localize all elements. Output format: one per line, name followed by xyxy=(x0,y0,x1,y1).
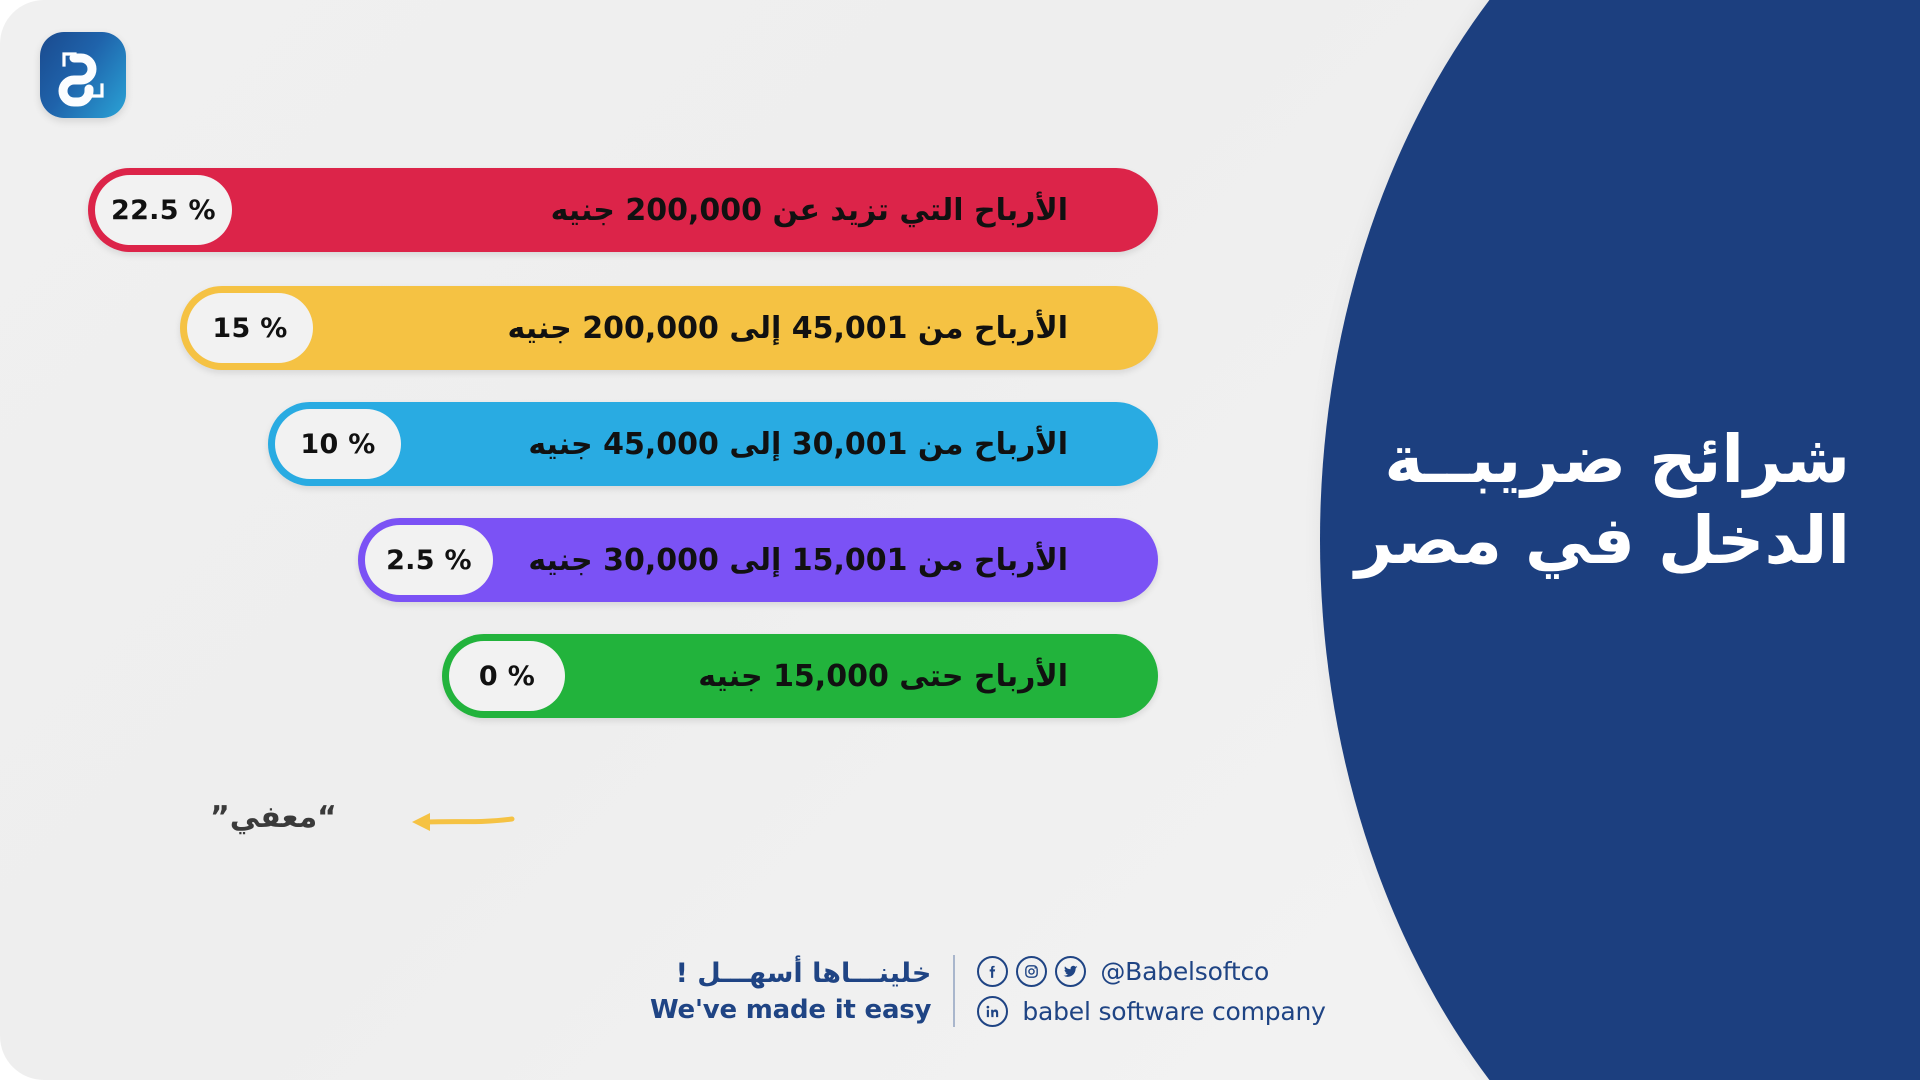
percent-label-2: 10 % xyxy=(300,429,375,460)
slogan-arabic: خلينـــاها أسهـــل ! xyxy=(650,958,931,989)
social-row-linkedin: babel software company xyxy=(977,996,1325,1027)
linkedin-glyph xyxy=(984,1003,1001,1020)
bracket-label-3: الأرباح من 15,001 إلى 30,000 جنيه xyxy=(528,543,1068,578)
twitter-icon[interactable] xyxy=(1055,956,1086,987)
bar-row-0[interactable]: 22.5 % الأرباح التي تزيد عن 200,000 جنيه xyxy=(88,168,1158,252)
infographic-canvas: شرائح ضريبــة الدخل في مصر 22.5 % الأربا… xyxy=(0,0,1920,1080)
babel-logo[interactable] xyxy=(40,32,126,118)
bracket-label-2: الأرباح من 30,001 إلى 45,000 جنيه xyxy=(528,427,1068,462)
linkedin-handle[interactable]: babel software company xyxy=(1022,997,1325,1026)
slogan-english: We've made it easy xyxy=(650,995,931,1025)
footer: خلينـــاها أسهـــل ! We've made it easy xyxy=(650,955,1326,1027)
percent-label-0: 22.5 % xyxy=(111,195,216,226)
instagram-icon[interactable] xyxy=(1016,956,1047,987)
facebook-icon[interactable] xyxy=(977,956,1008,987)
percent-pill-3: 2.5 % xyxy=(365,525,493,595)
percent-label-3: 2.5 % xyxy=(386,545,472,576)
twitter-glyph xyxy=(1062,963,1079,980)
bar-row-1[interactable]: 15 % الأرباح من 45,001 إلى 200,000 جنيه xyxy=(180,286,1158,370)
facebook-glyph xyxy=(984,963,1001,980)
instagram-glyph xyxy=(1023,963,1040,980)
bar-row-3[interactable]: 2.5 % الأرباح من 15,001 إلى 30,000 جنيه xyxy=(358,518,1158,602)
exempt-arrow-icon xyxy=(404,806,516,836)
percent-label-1: 15 % xyxy=(212,313,287,344)
page-title: شرائح ضريبــة الدخل في مصر xyxy=(1330,420,1850,581)
bracket-label-4: الأرباح حتى 15,000 جنيه xyxy=(698,659,1068,694)
bracket-label-1: الأرباح من 45,001 إلى 200,000 جنيه xyxy=(508,311,1069,346)
percent-label-4: 0 % xyxy=(479,661,535,692)
percent-pill-4: 0 % xyxy=(449,641,565,711)
exempt-annotation-label: “معفي” xyxy=(210,800,337,835)
percent-pill-0: 22.5 % xyxy=(95,175,232,245)
linkedin-icon[interactable] xyxy=(977,996,1008,1027)
percent-pill-1: 15 % xyxy=(187,293,313,363)
bracket-label-0: الأرباح التي تزيد عن 200,000 جنيه xyxy=(551,193,1068,228)
footer-divider xyxy=(953,955,955,1027)
social-row-handles: @Babelsoftco xyxy=(977,956,1325,987)
bar-row-2[interactable]: 10 % الأرباح من 30,001 إلى 45,000 جنيه xyxy=(268,402,1158,486)
babel-b-scanner-logo-icon xyxy=(40,32,126,118)
bar-row-4[interactable]: 0 % الأرباح حتى 15,000 جنيه xyxy=(442,634,1158,718)
footer-social: @Babelsoftco babel software company xyxy=(977,956,1325,1027)
social-handle[interactable]: @Babelsoftco xyxy=(1100,957,1269,986)
percent-pill-2: 10 % xyxy=(275,409,401,479)
footer-slogan: خلينـــاها أسهـــل ! We've made it easy xyxy=(650,958,931,1025)
